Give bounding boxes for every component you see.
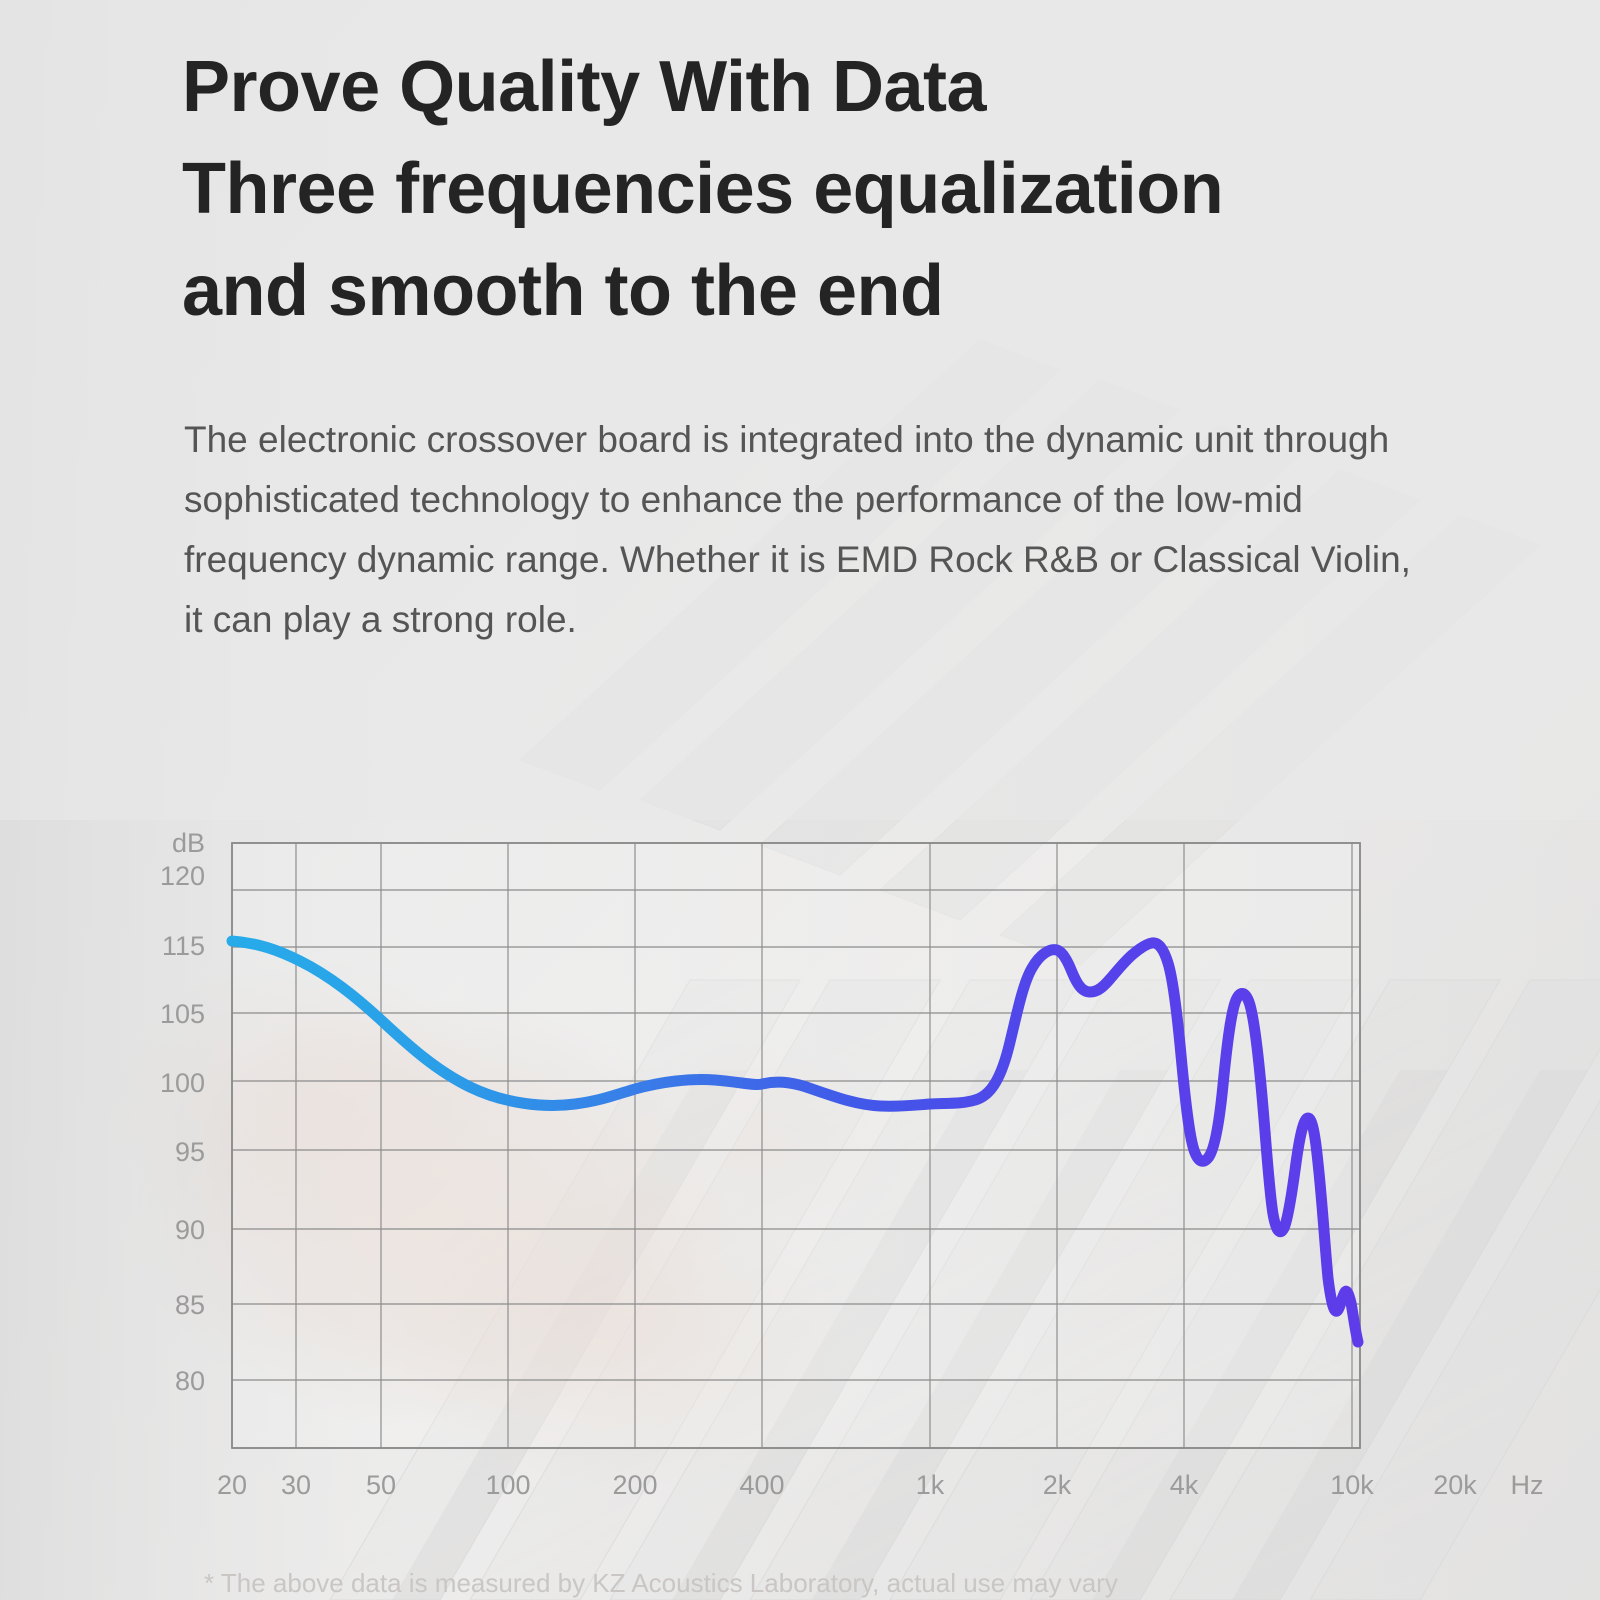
footnote-disclaimer: * The above data is measured by KZ Acous… — [204, 1568, 1454, 1599]
page-content: Prove Quality With Data Three frequencie… — [0, 0, 1600, 1600]
headline-line-1: Prove Quality With Data — [182, 47, 986, 127]
headline-line-3: and smooth to the end — [182, 251, 943, 331]
page-title: Prove Quality With Data Three frequencie… — [182, 36, 1512, 343]
headline-line-2: Three frequencies equalization — [182, 149, 1223, 229]
body-paragraph: The electronic crossover board is integr… — [184, 410, 1414, 650]
